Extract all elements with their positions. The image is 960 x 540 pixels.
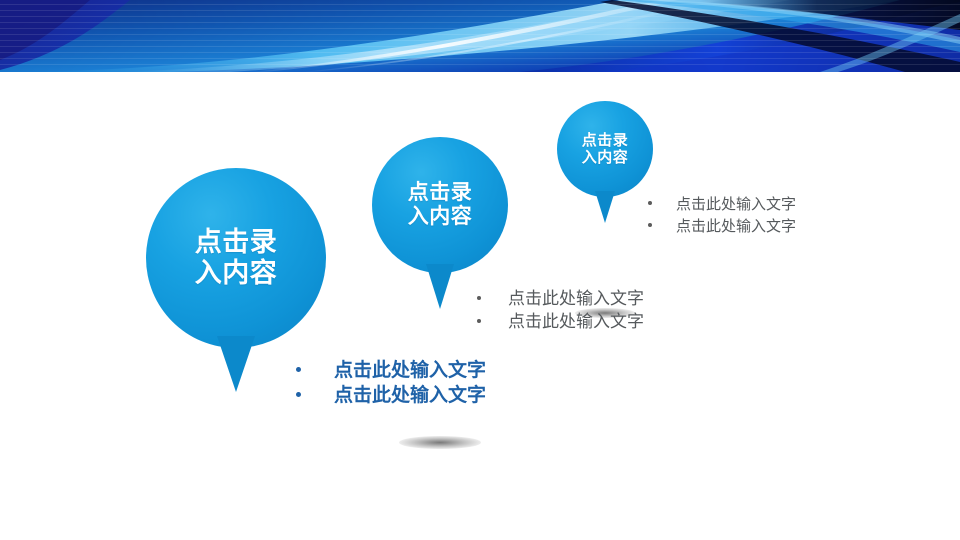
list-item[interactable]: 点击此处输入文字 (477, 310, 644, 333)
list-item-label: 点击此处输入文字 (334, 358, 486, 383)
bullet-dot-icon (296, 392, 301, 397)
bullet-dot-icon (296, 367, 301, 372)
pin-tail-small (595, 191, 615, 223)
pin-marker-medium[interactable]: 点击录 入内容 (372, 137, 508, 310)
pin-label-large-line1: 点击录 (195, 227, 278, 258)
pin-label-small-line1: 点击录 (582, 132, 629, 149)
pin-shadow-medium (399, 436, 481, 449)
bullet-dot-icon (477, 296, 481, 300)
list-item[interactable]: 点击此处输入文字 (477, 287, 644, 310)
pin-label-medium: 点击录 入内容 (408, 181, 473, 230)
pin-circle-large[interactable]: 点击录 入内容 (146, 168, 326, 348)
pin-tail-medium (426, 264, 454, 309)
bullet-list-medium: 点击此处输入文字 点击此处输入文字 (477, 287, 644, 333)
pin-label-small-line2: 入内容 (582, 149, 629, 166)
bullet-dot-icon (648, 201, 652, 205)
pin-marker-small[interactable]: 点击录 入内容 (557, 101, 653, 223)
list-item[interactable]: 点击此处输入文字 (648, 216, 796, 238)
list-item-label: 点击此处输入文字 (676, 194, 796, 216)
list-item-label: 点击此处输入文字 (508, 310, 644, 333)
banner-artwork (0, 0, 960, 72)
list-item[interactable]: 点击此处输入文字 (296, 383, 486, 408)
list-item-label: 点击此处输入文字 (508, 287, 644, 310)
list-item-label: 点击此处输入文字 (334, 383, 486, 408)
pin-label-large-line2: 入内容 (195, 258, 278, 289)
bullet-dot-icon (477, 319, 481, 323)
bullet-list-large: 点击此处输入文字 点击此处输入文字 (296, 358, 486, 408)
pin-label-small: 点击录 入内容 (582, 132, 629, 167)
list-item[interactable]: 点击此处输入文字 (648, 194, 796, 216)
pin-label-medium-line1: 点击录 (408, 181, 473, 205)
presentation-slide: 点击录 入内容 点击录 入内容 点击录 入内容 (0, 0, 960, 540)
pin-tail-large (217, 336, 255, 392)
pin-circle-small[interactable]: 点击录 入内容 (557, 101, 653, 197)
blue-wave-banner (0, 0, 960, 72)
pin-label-large: 点击录 入内容 (195, 227, 278, 290)
bullet-list-small: 点击此处输入文字 点击此处输入文字 (648, 194, 796, 238)
bullet-dot-icon (648, 223, 652, 227)
list-item[interactable]: 点击此处输入文字 (296, 358, 486, 383)
pin-label-medium-line2: 入内容 (408, 205, 473, 229)
pin-circle-medium[interactable]: 点击录 入内容 (372, 137, 508, 273)
list-item-label: 点击此处输入文字 (676, 216, 796, 238)
